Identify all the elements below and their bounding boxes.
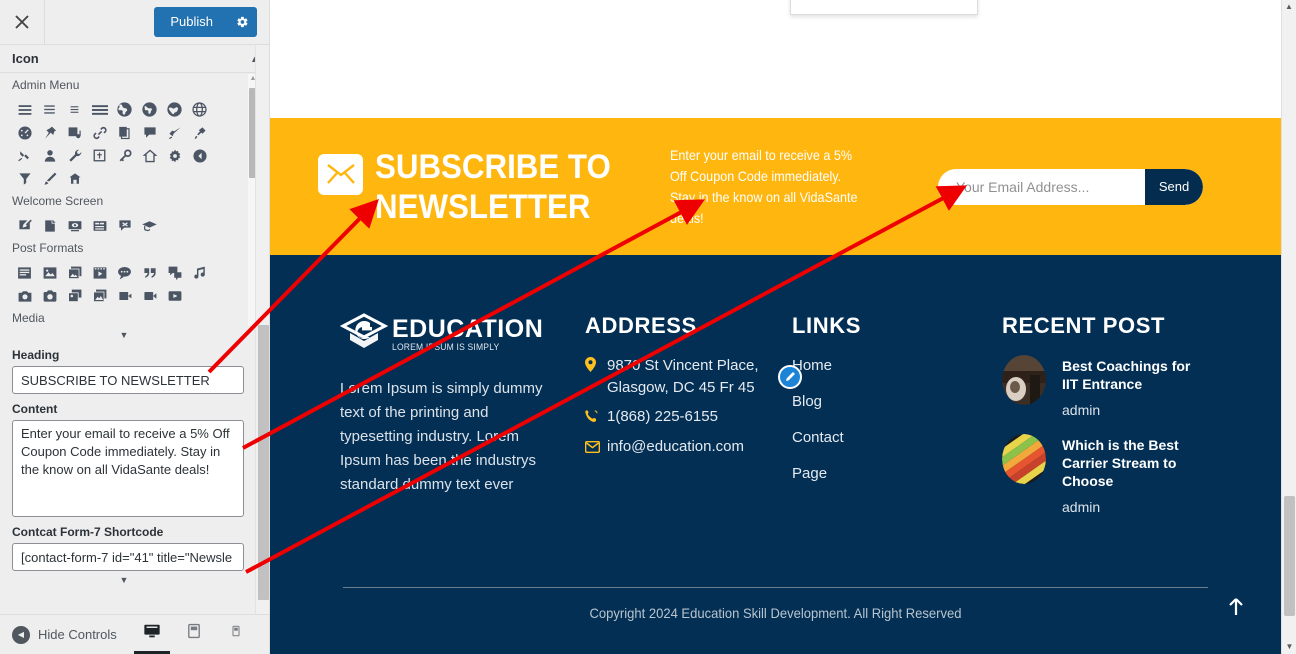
admin-comments-icon[interactable] — [137, 121, 162, 144]
browser-scrollbar[interactable]: ▲ ▼ — [1281, 0, 1296, 654]
admin-appearance-icon[interactable] — [162, 121, 187, 144]
content-textarea[interactable]: Enter your email to receive a 5% Off Cou… — [12, 420, 244, 517]
arrow-up-icon[interactable] — [1225, 596, 1247, 618]
camera-alt-icon[interactable] — [12, 284, 37, 307]
format-video-icon[interactable] — [87, 261, 112, 284]
address-phone-text: 1(868) 225-6155 — [607, 406, 718, 428]
icon-group-label-post-formats: Post Formats — [12, 241, 258, 255]
recent-post-item[interactable]: Best Coachings for IIT Entrance admin — [1002, 355, 1242, 418]
preview-top-card — [790, 0, 978, 15]
site-footer: EDUCATION LOREM IPSUM IS SIMPLY Lorem Ip… — [270, 255, 1281, 654]
format-gallery-icon[interactable] — [62, 261, 87, 284]
icon-grid-post-formats[interactable] — [12, 261, 222, 307]
heading-field-label: Heading — [0, 340, 270, 366]
images-alt-icon[interactable] — [62, 284, 87, 307]
admin-post-pin-icon[interactable] — [37, 121, 62, 144]
footer-columns: EDUCATION LOREM IPSUM IS SIMPLY Lorem Ip… — [270, 255, 1281, 531]
welcome-add-page-icon[interactable] — [37, 214, 62, 237]
footer-link-home[interactable]: Home — [792, 355, 977, 377]
icon-picker[interactable]: Admin Menu — [12, 74, 258, 326]
format-chat-icon[interactable] — [112, 261, 137, 284]
graduation-cap-logo-icon — [340, 313, 388, 355]
phone-icon — [585, 406, 607, 429]
video-alt3-icon[interactable] — [162, 284, 187, 307]
pencil-edit-icon[interactable] — [778, 365, 802, 389]
chevron-left-icon: ◀ — [12, 626, 30, 644]
sidebar-scroll-thumb[interactable] — [258, 325, 269, 600]
content-field-label: Content — [0, 394, 270, 420]
format-aside-icon[interactable] — [162, 261, 187, 284]
admin-network-key-icon[interactable] — [112, 144, 137, 167]
footer-address-column: ADDRESS 9870 St Vincent Place, Glasgow, … — [585, 313, 770, 531]
images-alt2-icon[interactable] — [87, 284, 112, 307]
chevron-down-icon[interactable]: ▼ — [0, 326, 248, 340]
newsletter-heading-block: SUBSCRIBE TO NEWSLETTER — [270, 147, 660, 227]
video-alt-icon[interactable] — [112, 284, 137, 307]
footer-divider — [343, 587, 1208, 588]
admin-generic-gear-icon[interactable] — [162, 144, 187, 167]
format-audio-icon[interactable] — [187, 261, 212, 284]
camera-icon[interactable] — [37, 284, 62, 307]
device-desktop-button[interactable] — [138, 618, 166, 652]
site-globe-icon[interactable] — [112, 98, 137, 121]
heading-input[interactable] — [12, 366, 244, 394]
device-mobile-button[interactable] — [222, 618, 250, 652]
customizer-sidebar: Publish Icon ▲ Admin Menu — [0, 0, 270, 654]
footer-about-column: EDUCATION LOREM IPSUM IS SIMPLY Lorem Ip… — [340, 313, 555, 531]
post-author: admin — [1062, 499, 1202, 515]
post-title[interactable]: Which is the Best Carrier Stream to Choo… — [1062, 436, 1202, 490]
admin-settings-icon[interactable] — [87, 144, 112, 167]
menu-alt-icon[interactable] — [37, 98, 62, 121]
admin-multisite-icon[interactable] — [62, 167, 87, 190]
post-author: admin — [1062, 402, 1202, 418]
newsletter-description: Enter your email to receive a 5% Off Cou… — [670, 145, 868, 229]
icon-grid-welcome-screen[interactable] — [12, 214, 222, 237]
newsletter-title: SUBSCRIBE TO NEWSLETTER — [375, 147, 637, 227]
address-column-title: ADDRESS — [585, 313, 770, 339]
chevron-down-bottom-icon[interactable]: ▼ — [0, 571, 248, 585]
admin-media-icon[interactable] — [62, 121, 87, 144]
site-preview: SUBSCRIBE TO NEWSLETTER Enter your email… — [270, 0, 1281, 654]
filter-icon[interactable] — [12, 167, 37, 190]
device-preview-buttons[interactable] — [138, 618, 270, 652]
copyright-text: Copyright 2024 Education Skill Developme… — [305, 605, 1245, 621]
dashboard-icon[interactable] — [12, 121, 37, 144]
footer-links-column: LINKS Home Blog Contact Page — [792, 313, 977, 531]
sidebar-scrollbar[interactable] — [255, 45, 269, 614]
video-alt2-icon[interactable] — [137, 284, 162, 307]
address-row-location: 9870 St Vincent Place, Glasgow, DC 45 Fr… — [585, 355, 770, 399]
device-tablet-button[interactable] — [180, 618, 208, 652]
icon-grid-admin-menu[interactable] — [12, 98, 222, 190]
hide-controls-label: Hide Controls — [38, 627, 117, 642]
welcome-learn-more-icon[interactable] — [137, 214, 162, 237]
address-row-phone: 1(868) 225-6155 — [585, 406, 770, 429]
site-alt3-icon[interactable] — [187, 98, 212, 121]
menu-alt2-icon[interactable] — [62, 98, 87, 121]
admin-customizer-brush-icon[interactable] — [37, 167, 62, 190]
newsletter-form[interactable]: Send — [938, 169, 1203, 205]
shortcode-input[interactable] — [12, 543, 244, 571]
admin-tools-icon[interactable] — [62, 144, 87, 167]
admin-page-icon[interactable] — [112, 121, 137, 144]
publish-button-label: Publish — [154, 7, 227, 37]
admin-plugins-icon[interactable] — [187, 121, 212, 144]
format-quote-icon[interactable] — [137, 261, 162, 284]
recent-post-column-title: RECENT POST — [1002, 313, 1242, 339]
email-input[interactable] — [938, 169, 1145, 205]
format-image-icon[interactable] — [37, 261, 62, 284]
links-column-title: LINKS — [792, 313, 977, 339]
menu-icon[interactable] — [12, 98, 37, 121]
admin-links-icon[interactable] — [87, 121, 112, 144]
site-alt2-icon[interactable] — [162, 98, 187, 121]
icon-group-label-admin-menu: Admin Menu — [12, 78, 258, 92]
location-pin-icon — [585, 355, 607, 378]
post-thumbnail — [1002, 355, 1046, 405]
address-email-text: info@education.com — [607, 436, 744, 458]
footer-link-blog[interactable]: Blog — [792, 391, 977, 413]
gear-icon[interactable] — [227, 7, 257, 37]
icon-group-label-media: Media — [12, 311, 258, 325]
customizer-footer: ◀ Hide Controls — [0, 614, 270, 654]
post-thumbnail — [1002, 434, 1046, 484]
post-meta: Best Coachings for IIT Entrance admin — [1062, 355, 1202, 418]
format-standard-icon[interactable] — [12, 261, 37, 284]
scroll-up-icon[interactable]: ▲ — [1282, 0, 1296, 14]
post-meta: Which is the Best Carrier Stream to Choo… — [1062, 434, 1202, 515]
welcome-view-site-icon[interactable] — [62, 214, 87, 237]
send-button[interactable]: Send — [1145, 169, 1203, 205]
icon-group-label-welcome-screen: Welcome Screen — [12, 194, 258, 208]
site-logo-text: EDUCATION LOREM IPSUM IS SIMPLY — [392, 316, 543, 352]
admin-plugins-alt-icon[interactable] — [12, 144, 37, 167]
welcome-write-blog-icon[interactable] — [12, 214, 37, 237]
welcome-widgets-menus-icon[interactable] — [87, 214, 112, 237]
admin-home-icon[interactable] — [137, 144, 162, 167]
site-logo-tagline: LOREM IPSUM IS SIMPLY — [392, 342, 536, 352]
customizer-header: Publish — [0, 0, 269, 45]
section-header-label: Icon — [12, 51, 39, 66]
address-location-text: 9870 St Vincent Place, Glasgow, DC 45 Fr… — [607, 355, 770, 399]
welcome-comments-icon[interactable] — [112, 214, 137, 237]
site-logo[interactable]: EDUCATION LOREM IPSUM IS SIMPLY — [340, 313, 555, 355]
envelope-icon — [585, 436, 607, 459]
footer-about-text: Lorem Ipsum is simply dummy text of the … — [340, 377, 555, 497]
site-logo-name: EDUCATION — [392, 315, 543, 343]
admin-users-icon[interactable] — [37, 144, 62, 167]
footer-link-contact[interactable]: Contact — [792, 427, 977, 449]
scroll-down-icon[interactable]: ▼ — [1282, 640, 1296, 654]
shortcode-field-label: Contcat Form-7 Shortcode — [0, 517, 270, 543]
site-alt-icon[interactable] — [137, 98, 162, 121]
close-icon[interactable] — [0, 0, 45, 44]
section-header-icon[interactable]: Icon ▲ — [0, 45, 269, 73]
recent-post-item[interactable]: Which is the Best Carrier Stream to Choo… — [1002, 434, 1242, 515]
hide-controls-button[interactable]: ◀ Hide Controls — [0, 626, 117, 644]
address-row-email: info@education.com — [585, 436, 770, 459]
browser-scroll-thumb[interactable] — [1284, 496, 1295, 616]
post-title[interactable]: Best Coachings for IIT Entrance — [1062, 357, 1202, 393]
customizer-panel-body: Admin Menu — [0, 74, 270, 614]
footer-recent-post-column: RECENT POST Best Coachings for IIT Entra… — [1002, 313, 1242, 531]
envelope-icon — [318, 154, 363, 195]
publish-button[interactable]: Publish — [154, 7, 257, 37]
menu-alt3-icon[interactable] — [87, 98, 112, 121]
admin-collapse-icon[interactable] — [187, 144, 212, 167]
newsletter-section: SUBSCRIBE TO NEWSLETTER Enter your email… — [270, 118, 1281, 255]
footer-link-page[interactable]: Page — [792, 463, 977, 485]
